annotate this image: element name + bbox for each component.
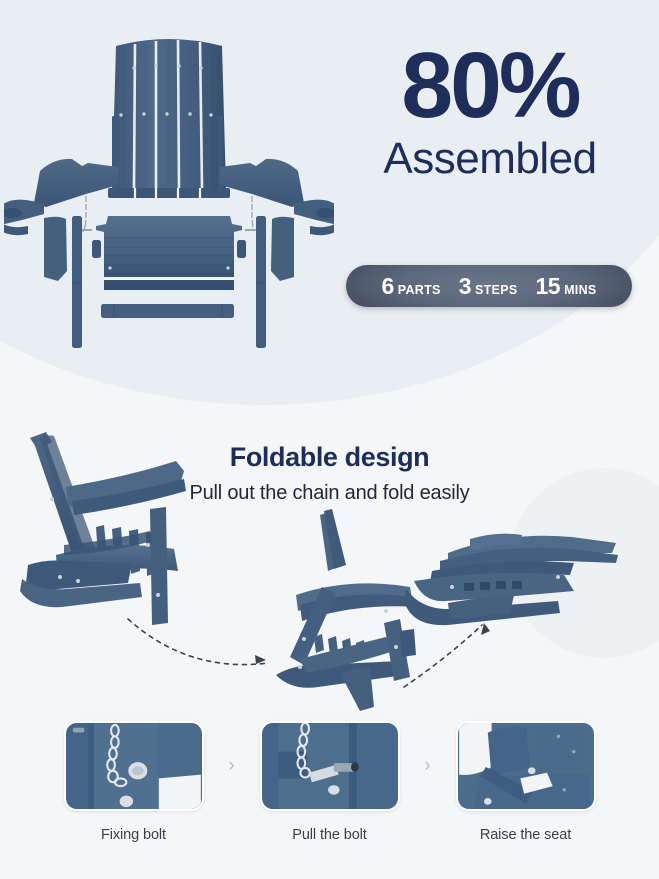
fold-arrow-2 — [404, 625, 482, 687]
chair-bracket-right-part — [237, 240, 246, 258]
step-item-2: Pull the bolt — [255, 721, 405, 843]
exploded-chair-diagram — [4, 28, 334, 358]
hero-section: 80% Assembled 6 PARTS 3 STEPS 15 MINS — [0, 0, 659, 405]
chair-side-right-part — [271, 217, 294, 281]
foldable-section: Foldable design Pull out the chain and f… — [0, 405, 659, 721]
badge-item-parts: 6 PARTS — [372, 273, 449, 300]
chair-arm-left-part — [34, 159, 118, 207]
step-item-3: Raise the seat — [451, 721, 601, 843]
chair-backrest-part — [108, 39, 230, 198]
steps-section: Fixing bolt › — [0, 721, 659, 879]
hero-headline: 80% Assembled — [340, 42, 640, 183]
assembled-percentage: 80% — [340, 42, 640, 128]
badge-steps-unit: STEPS — [475, 283, 518, 297]
specs-badge: 6 PARTS 3 STEPS 15 MINS — [346, 265, 632, 307]
chair-cupholder-right-part — [294, 200, 334, 236]
badge-mins-unit: MINS — [564, 283, 596, 297]
fold-arrow-1 — [128, 619, 268, 665]
badge-parts-number: 6 — [381, 273, 393, 300]
step-separator-1-icon: › — [209, 721, 255, 811]
chair-folded-flat-illustration — [404, 534, 618, 625]
chair-rail-right-part — [256, 216, 266, 348]
chair-unfolded-illustration — [20, 432, 186, 625]
step-2-thumbnail — [260, 721, 400, 811]
chair-side-left-part — [44, 217, 67, 281]
assembled-label: Assembled — [340, 136, 640, 182]
chair-stretcher-part — [101, 304, 234, 318]
step-1-caption: Fixing bolt — [101, 827, 166, 843]
step-2-caption: Pull the bolt — [292, 827, 366, 843]
chair-seat-part — [96, 216, 242, 290]
chair-folding-illustration — [276, 509, 416, 711]
badge-item-mins: 15 MINS — [526, 273, 605, 300]
step-3-caption: Raise the seat — [480, 827, 571, 843]
badge-item-steps: 3 STEPS — [450, 273, 527, 300]
chair-rail-left-part — [72, 216, 82, 348]
step-3-thumbnail — [456, 721, 596, 811]
chair-bracket-left-part — [92, 240, 101, 258]
badge-steps-number: 3 — [459, 273, 471, 300]
chair-cupholder-left-part — [4, 200, 44, 236]
step-1-thumbnail — [64, 721, 204, 811]
badge-parts-unit: PARTS — [398, 283, 441, 297]
badge-mins-number: 15 — [535, 273, 560, 300]
step-separator-2-icon: › — [405, 721, 451, 811]
folding-sequence-illustration — [0, 405, 659, 721]
chair-arm-right-part — [220, 159, 304, 207]
step-item-1: Fixing bolt — [59, 721, 209, 843]
